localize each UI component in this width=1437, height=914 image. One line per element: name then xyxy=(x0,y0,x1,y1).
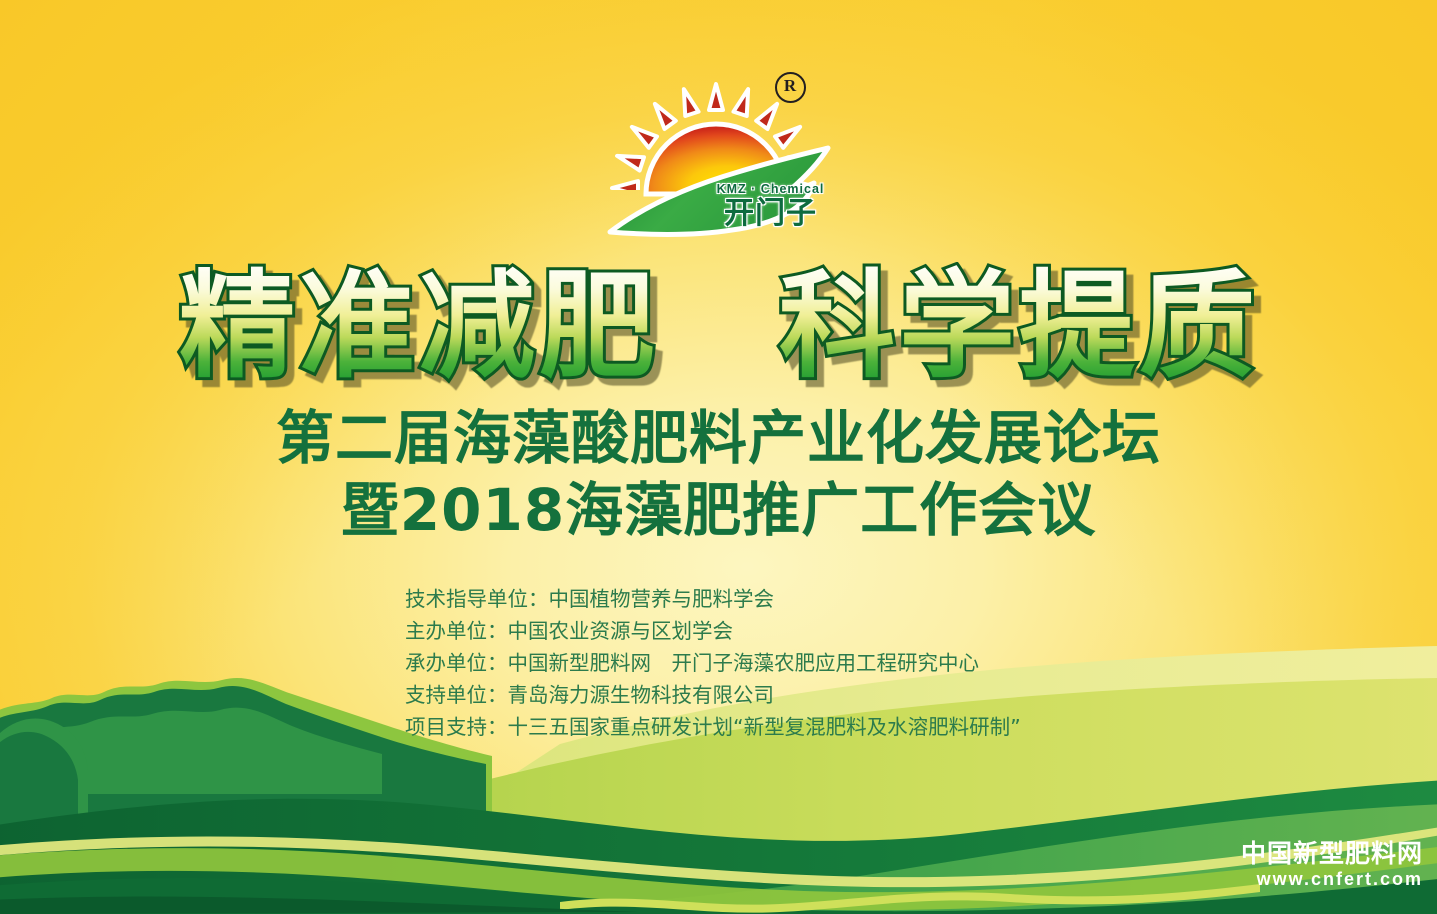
subtitle-line-2: 暨2018海藻肥推广工作会议 xyxy=(0,474,1437,546)
headline-text: 精准减肥 科学提质 xyxy=(179,262,1259,392)
conference-banner: R KMZ · Chemical 开门子 xyxy=(0,0,1437,914)
registered-trademark-icon: R xyxy=(775,72,806,103)
headline-slogan: 精准减肥 科学提质 xyxy=(0,262,1437,392)
detail-line-host: 主办单位：中国农业资源与区划学会 xyxy=(405,615,1021,647)
company-logo: R KMZ · Chemical 开门子 xyxy=(0,56,1437,246)
organizer-details: 技术指导单位：中国植物营养与肥料学会 主办单位：中国农业资源与区划学会 承办单位… xyxy=(405,583,1021,743)
detail-line-project-support: 项目支持：十三五国家重点研发计划“新型复混肥料及水溶肥料研制” xyxy=(405,711,1021,743)
watermark-url: www.cnfert.com xyxy=(1241,868,1423,890)
logo-brand-latin: KMZ · Chemical xyxy=(712,182,830,197)
event-subtitle: 第二届海藻酸肥料产业化发展论坛 暨2018海藻肥推广工作会议 xyxy=(0,402,1437,546)
watermark-site-name: 中国新型肥料网 xyxy=(1241,840,1423,868)
detail-line-supporter: 支持单位：青岛海力源生物科技有限公司 xyxy=(405,679,1021,711)
subtitle-line-1: 第二届海藻酸肥料产业化发展论坛 xyxy=(0,402,1437,474)
detail-line-organizer: 承办单位：中国新型肥料网 开门子海藻农肥应用工程研究中心 xyxy=(405,647,1021,679)
site-watermark: 中国新型肥料网 www.cnfert.com xyxy=(1241,840,1423,890)
logo-brand-text: KMZ · Chemical 开门子 xyxy=(712,182,830,230)
detail-line-technical-guidance: 技术指导单位：中国植物营养与肥料学会 xyxy=(405,583,1021,615)
logo-brand-chinese: 开门子 xyxy=(712,197,830,230)
